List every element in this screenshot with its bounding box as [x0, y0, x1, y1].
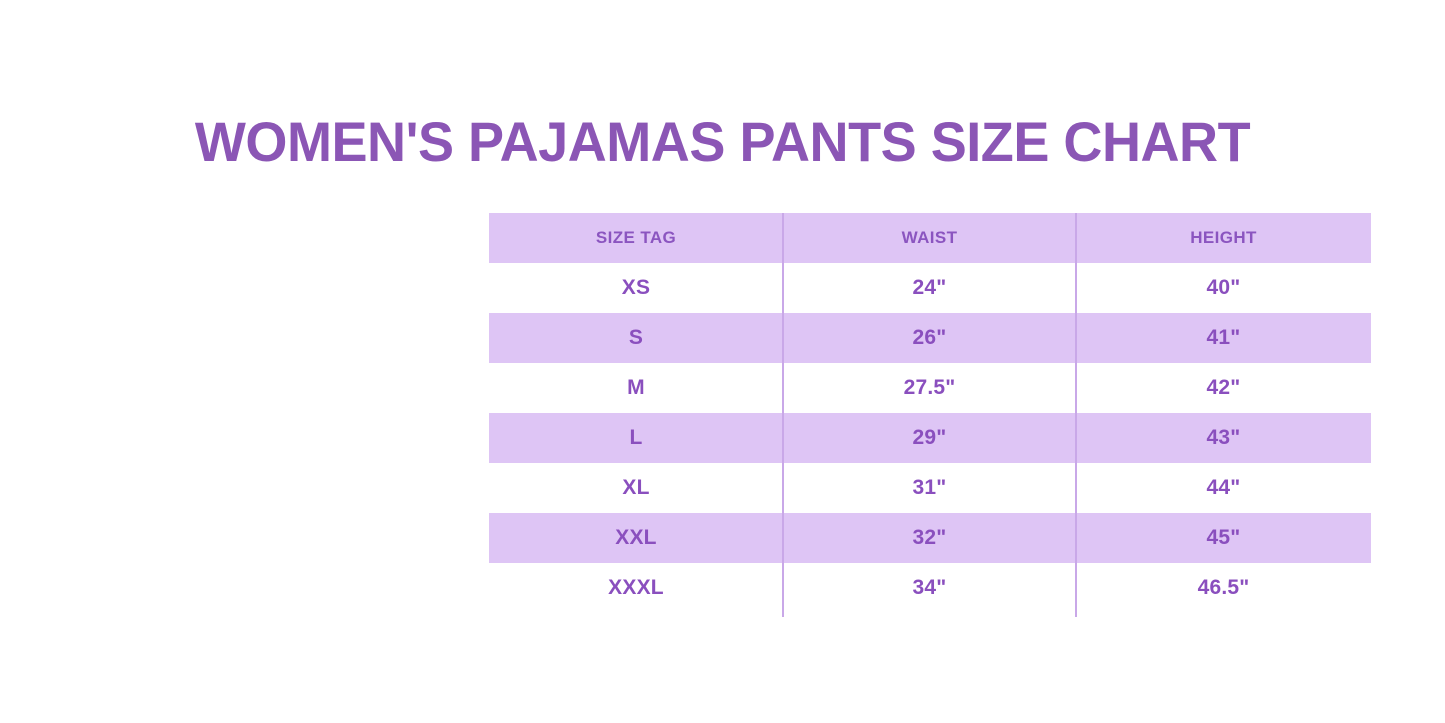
table-header: SIZE TAG WAIST HEIGHT — [489, 213, 1371, 263]
cell-waist: 26" — [783, 313, 1076, 363]
size-chart-page: WOMEN'S PAJAMAS PANTS SIZE CHART SIZE TA… — [0, 0, 1445, 723]
table-row: XL 31" 44" — [489, 463, 1371, 513]
page-title: WOMEN'S PAJAMAS PANTS SIZE CHART — [25, 106, 1419, 178]
cell-waist: 31" — [783, 463, 1076, 513]
table-row: L 29" 43" — [489, 413, 1371, 463]
column-header-size-tag: SIZE TAG — [489, 213, 783, 263]
table-header-row: SIZE TAG WAIST HEIGHT — [489, 213, 1371, 263]
cell-size-tag: XXXL — [489, 563, 783, 613]
column-divider-line — [782, 213, 784, 617]
cell-size-tag: XS — [489, 263, 783, 313]
cell-size-tag: L — [489, 413, 783, 463]
column-header-height: HEIGHT — [1076, 213, 1371, 263]
cell-height: 41" — [1076, 313, 1371, 363]
cell-height: 45" — [1076, 513, 1371, 563]
cell-height: 42" — [1076, 363, 1371, 413]
cell-size-tag: XXL — [489, 513, 783, 563]
table-row: XXL 32" 45" — [489, 513, 1371, 563]
size-chart-table: SIZE TAG WAIST HEIGHT XS 24" 40" S 26" 4… — [489, 213, 1371, 613]
column-header-waist: WAIST — [783, 213, 1076, 263]
cell-height: 46.5" — [1076, 563, 1371, 613]
cell-size-tag: M — [489, 363, 783, 413]
cell-waist: 29" — [783, 413, 1076, 463]
cell-height: 43" — [1076, 413, 1371, 463]
table-row: XXXL 34" 46.5" — [489, 563, 1371, 613]
cell-waist: 27.5" — [783, 363, 1076, 413]
cell-waist: 34" — [783, 563, 1076, 613]
table-body: XS 24" 40" S 26" 41" M 27.5" 42" L 29" 4… — [489, 263, 1371, 613]
cell-waist: 24" — [783, 263, 1076, 313]
table-row: S 26" 41" — [489, 313, 1371, 363]
cell-waist: 32" — [783, 513, 1076, 563]
cell-height: 40" — [1076, 263, 1371, 313]
table-row: M 27.5" 42" — [489, 363, 1371, 413]
cell-size-tag: S — [489, 313, 783, 363]
cell-height: 44" — [1076, 463, 1371, 513]
column-divider-line — [1075, 213, 1077, 617]
table-row: XS 24" 40" — [489, 263, 1371, 313]
cell-size-tag: XL — [489, 463, 783, 513]
